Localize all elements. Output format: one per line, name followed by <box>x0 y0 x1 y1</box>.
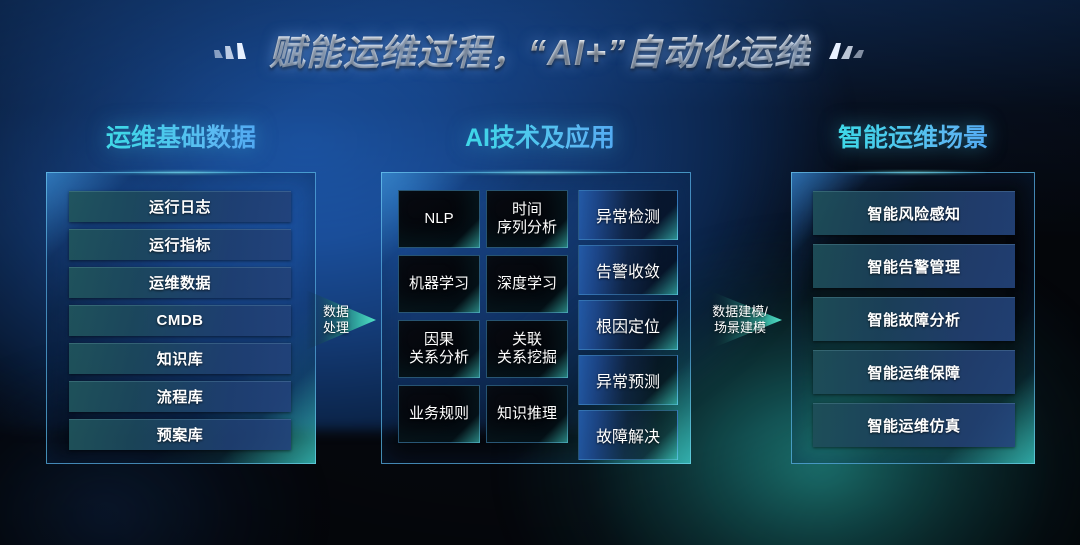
list-item-left-1[interactable]: 运行指标 <box>69 229 291 260</box>
tech-cell-causal-analysis[interactable]: 因果关系分析 <box>398 320 480 378</box>
list-item-right-2[interactable]: 智能故障分析 <box>813 297 1015 341</box>
app-cell-3[interactable]: 异常预测 <box>578 355 678 405</box>
tech-cell-knowledge-reason[interactable]: 知识推理 <box>486 385 568 443</box>
column-heading-middle: AI技术及应用 <box>393 118 687 154</box>
panel-scenarios: 智能风险感知 智能告警管理 智能故障分析 智能运维保障 智能运维仿真 <box>791 172 1035 464</box>
arrow-data-processing: 数据 处理 <box>306 284 378 356</box>
arrow-label-line-0: 数据建模/ <box>698 304 782 320</box>
list-item-left-0[interactable]: 运行日志 <box>69 191 291 222</box>
tech-cell-business-rules[interactable]: 业务规则 <box>398 385 480 443</box>
page-title: 赋能运维过程，“AI+”自动化运维 <box>269 24 811 76</box>
app-cell-4[interactable]: 故障解决 <box>578 410 678 460</box>
list-item-left-4[interactable]: 知识库 <box>69 343 291 374</box>
app-cell-0[interactable]: 异常检测 <box>578 190 678 240</box>
arrow-data-processing-label: 数据 处理 <box>300 304 372 337</box>
arrow-label-line-1: 处理 <box>300 320 372 336</box>
list-item-right-0[interactable]: 智能风险感知 <box>813 191 1015 235</box>
slash-deco-left-icon <box>213 37 255 63</box>
panel-base-data: 运行日志 运行指标 运维数据 CMDB 知识库 流程库 预案库 <box>46 172 316 464</box>
column-heading-right: 智能运维场景 <box>766 118 1060 154</box>
arrow-data-modeling: 数据建模/ 场景建模 <box>702 284 786 356</box>
panel-ai-tech: NLP 时间序列分析 机器学习 深度学习 因果关系分析 关联关系挖掘 业务规则 … <box>381 172 691 464</box>
arrow-label-line-1: 场景建模 <box>698 320 782 336</box>
list-item-right-3[interactable]: 智能运维保障 <box>813 350 1015 394</box>
list-item-right-1[interactable]: 智能告警管理 <box>813 244 1015 288</box>
list-item-left-2[interactable]: 运维数据 <box>69 267 291 298</box>
tech-cell-time-series[interactable]: 时间序列分析 <box>486 190 568 248</box>
arrow-data-modeling-label: 数据建模/ 场景建模 <box>698 304 782 337</box>
app-cell-2[interactable]: 根因定位 <box>578 300 678 350</box>
tech-cell-relation-mining[interactable]: 关联关系挖掘 <box>486 320 568 378</box>
arrow-label-line-0: 数据 <box>300 304 372 320</box>
list-item-left-3[interactable]: CMDB <box>69 305 291 336</box>
list-item-left-5[interactable]: 流程库 <box>69 381 291 412</box>
tech-cell-machine-learning[interactable]: 机器学习 <box>398 255 480 313</box>
app-cell-1[interactable]: 告警收敛 <box>578 245 678 295</box>
tech-cell-nlp[interactable]: NLP <box>398 190 480 248</box>
slide-canvas: 赋能运维过程，“AI+”自动化运维 运维基础数据 运行日志 运行指标 运维数据 … <box>0 0 1080 545</box>
column-heading-left: 运维基础数据 <box>44 118 318 154</box>
list-item-left-6[interactable]: 预案库 <box>69 419 291 450</box>
tech-cell-deep-learning[interactable]: 深度学习 <box>486 255 568 313</box>
slash-deco-right-icon <box>825 37 867 63</box>
slide-title-bar: 赋能运维过程，“AI+”自动化运维 <box>0 22 1080 78</box>
list-item-right-4[interactable]: 智能运维仿真 <box>813 403 1015 447</box>
